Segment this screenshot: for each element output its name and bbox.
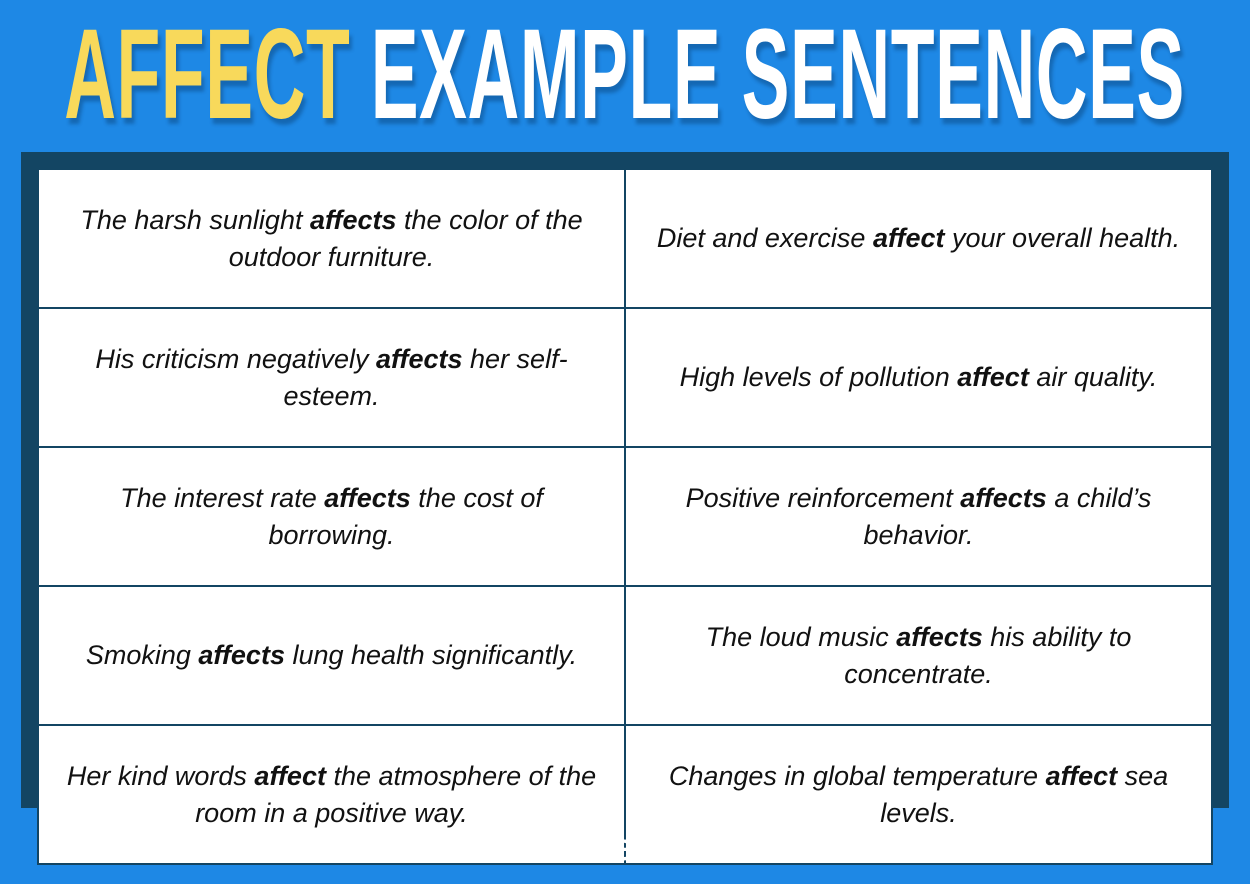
sentence-pre: The interest rate — [120, 483, 324, 513]
sentence-pre: The harsh sunlight — [80, 205, 310, 235]
sentence-cell: His criticism negatively affects her sel… — [38, 308, 625, 447]
poster: AFFECT EXAMPLE SENTENCES The harsh sunli… — [0, 0, 1250, 884]
table-row: The harsh sunlight affects the color of … — [38, 169, 1212, 308]
sentence-keyword: affect — [957, 362, 1029, 392]
sentence-post: your overall health. — [945, 223, 1181, 253]
table-row: The interest rate affects the cost of bo… — [38, 447, 1212, 586]
sentence-table-frame: The harsh sunlight affects the color of … — [21, 152, 1229, 808]
sentence-pre: Changes in global temperature — [669, 761, 1046, 791]
sentence-pre: The loud music — [706, 622, 897, 652]
sentence-cell: Diet and exercise affect your overall he… — [625, 169, 1212, 308]
sentence-keyword: affects — [198, 640, 285, 670]
sentence-pre: High levels of pollution — [680, 362, 958, 392]
sentence-pre: Smoking — [86, 640, 199, 670]
sentence-cell: Smoking affects lung health significantl… — [38, 586, 625, 725]
sentence-pre: Her kind words — [67, 761, 255, 791]
table-row: His criticism negatively affects her sel… — [38, 308, 1212, 447]
page-title: AFFECT EXAMPLE SENTENCES — [65, 12, 1186, 137]
title-bar: AFFECT EXAMPLE SENTENCES — [0, 0, 1250, 150]
footer-bar: www.Games4esl.com — [0, 812, 1250, 884]
sentence-keyword: affect — [1046, 761, 1118, 791]
sentence-cell: The harsh sunlight affects the color of … — [38, 169, 625, 308]
sentence-keyword: affects — [960, 483, 1047, 513]
sentence-pre: Diet and exercise — [657, 223, 873, 253]
title-keyword: AFFECT — [65, 3, 351, 146]
sentence-keyword: affects — [376, 344, 463, 374]
sentence-keyword: affects — [310, 205, 397, 235]
sentence-pre: His criticism negatively — [95, 344, 376, 374]
title-rest: EXAMPLE SENTENCES — [351, 3, 1186, 146]
sentence-post: lung health significantly. — [285, 640, 577, 670]
website-url: www.Games4esl.com — [429, 827, 821, 870]
sentence-table: The harsh sunlight affects the color of … — [37, 168, 1213, 865]
sentence-keyword: affects — [324, 483, 411, 513]
sentence-cell: The loud music affects his ability to co… — [625, 586, 1212, 725]
sentence-pre: Positive reinforcement — [686, 483, 961, 513]
sentence-post: air quality. — [1029, 362, 1158, 392]
sentence-cell: The interest rate affects the cost of bo… — [38, 447, 625, 586]
table-row: Smoking affects lung health significantl… — [38, 586, 1212, 725]
sentence-keyword: affect — [254, 761, 326, 791]
sentence-keyword: affects — [896, 622, 983, 652]
sentence-keyword: affect — [873, 223, 945, 253]
sentence-cell: Positive reinforcement affects a child’s… — [625, 447, 1212, 586]
sentence-cell: High levels of pollution affect air qual… — [625, 308, 1212, 447]
